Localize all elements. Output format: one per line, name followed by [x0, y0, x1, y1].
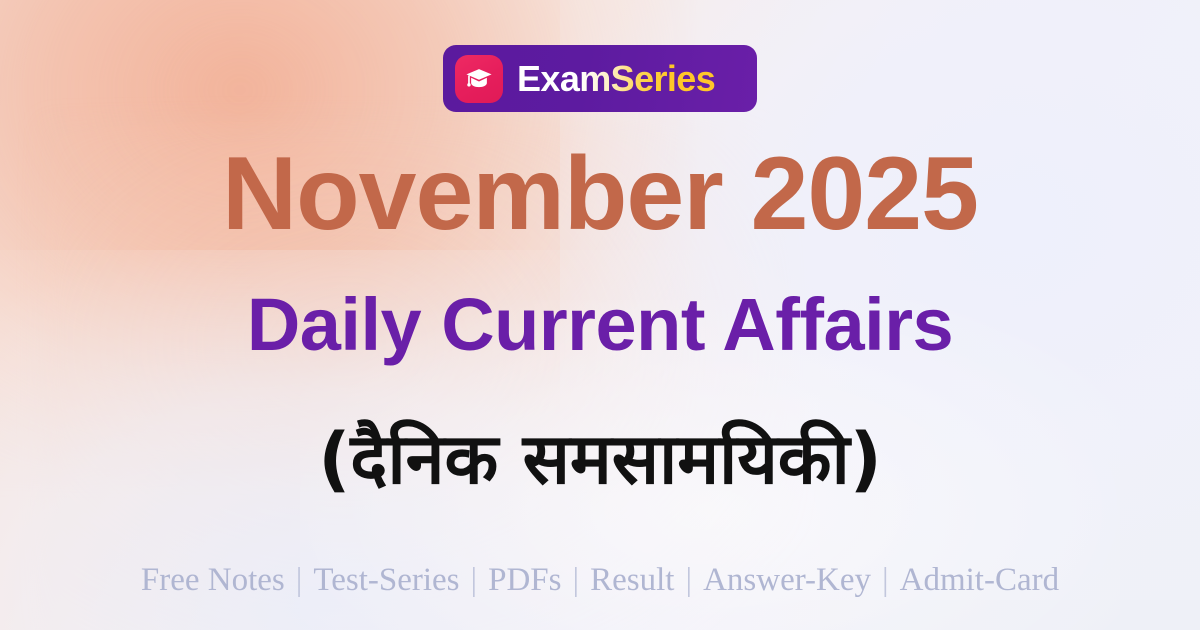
brand-name: ExamSeries — [517, 61, 715, 97]
poster-content: ExamSeries November 2025 Daily Current A… — [0, 0, 1200, 630]
poster-canvas: ExamSeries November 2025 Daily Current A… — [0, 0, 1200, 630]
footer-links: Free Notes | Test-Series | PDFs | Result… — [0, 562, 1200, 599]
footer-link-test-series[interactable]: Test-Series — [313, 562, 459, 599]
footer-link-answer-key[interactable]: Answer-Key — [703, 562, 871, 599]
graduation-cap-icon — [455, 55, 503, 103]
headline-title: Daily Current Affairs — [0, 288, 1200, 362]
footer-link-free-notes[interactable]: Free Notes — [141, 562, 285, 599]
footer-link-result[interactable]: Result — [590, 562, 674, 599]
footer-separator: | — [573, 562, 580, 599]
brand-badge[interactable]: ExamSeries — [443, 45, 757, 112]
footer-separator: | — [882, 562, 889, 599]
footer-link-admit-card[interactable]: Admit-Card — [900, 562, 1059, 599]
footer-link-pdfs[interactable]: PDFs — [488, 562, 561, 599]
footer-separator: | — [471, 562, 478, 599]
headline-subtitle-hindi: (दैनिक समसामयिकी) — [0, 418, 1200, 501]
footer-separator: | — [296, 562, 303, 599]
headline-month-year: November 2025 — [0, 142, 1200, 246]
footer-separator: | — [685, 562, 692, 599]
